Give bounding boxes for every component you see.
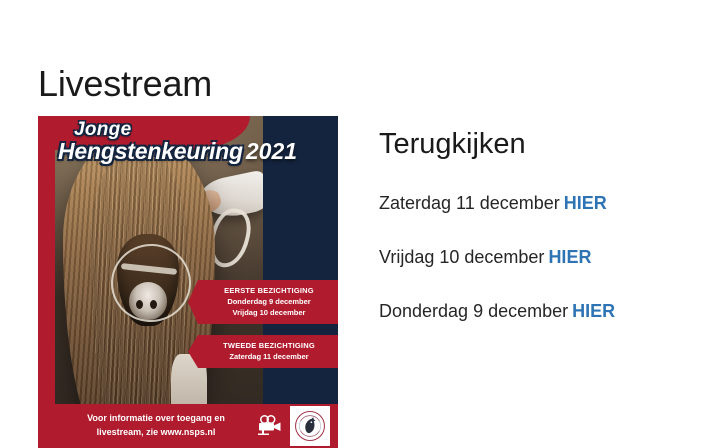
ribbon-2-title: TWEEDE BEZICHTIGING bbox=[210, 340, 328, 351]
poster-footer-line-1: Voor informatie over toegang en bbox=[64, 411, 248, 425]
page-title: Livestream bbox=[38, 62, 212, 106]
replay-section-title: Terugkijken bbox=[379, 126, 699, 162]
ribbon-1-line-1: Donderdag 9 december bbox=[210, 296, 328, 307]
nsps-logo bbox=[290, 406, 330, 446]
replay-row-friday: Vrijdag 10 decemberHIER bbox=[379, 245, 699, 269]
poster-headline-year: 2021 bbox=[246, 138, 297, 164]
replay-link-thursday[interactable]: HIER bbox=[572, 301, 615, 321]
poster-ribbon-first-viewing: EERSTE BEZICHTIGING Donderdag 9 december… bbox=[188, 280, 338, 324]
replay-label-saturday: Zaterdag 11 december bbox=[379, 193, 560, 213]
nsps-horse-head-logo-icon bbox=[293, 409, 327, 443]
replay-link-saturday[interactable]: HIER bbox=[564, 193, 607, 213]
replay-label-thursday: Donderdag 9 december bbox=[379, 301, 568, 321]
replay-label-friday: Vrijdag 10 december bbox=[379, 247, 544, 267]
ribbon-2-line-1: Zaterdag 11 december bbox=[210, 351, 328, 362]
poster-headline-line1: Jonge bbox=[74, 120, 297, 140]
replay-link-friday[interactable]: HIER bbox=[548, 247, 591, 267]
poster-headline: Jonge Hengstenkeuring2021 bbox=[58, 120, 297, 167]
poster-ribbon-second-viewing: TWEEDE BEZICHTIGING Zaterdag 11 december bbox=[188, 335, 338, 368]
replay-section: Terugkijken Zaterdag 11 decemberHIER Vri… bbox=[379, 116, 699, 323]
poster-red-left-strip bbox=[38, 116, 55, 448]
video-camera-icon bbox=[256, 415, 282, 435]
poster-footer-text: Voor informatie over toegang en livestre… bbox=[64, 411, 248, 439]
poster-footer-bar: Voor informatie over toegang en livestre… bbox=[38, 404, 338, 448]
livestream-poster-image: Jonge Hengstenkeuring2021 EERSTE BEZICHT… bbox=[38, 116, 338, 448]
replay-row-saturday: Zaterdag 11 decemberHIER bbox=[379, 191, 699, 215]
ribbon-1-title: EERSTE BEZICHTIGING bbox=[210, 285, 328, 296]
poster-headline-line2: Hengstenkeuring bbox=[58, 138, 243, 164]
replay-row-thursday: Donderdag 9 decemberHIER bbox=[379, 299, 699, 323]
ribbon-1-line-2: Vrijdag 10 december bbox=[210, 307, 328, 318]
poster-footer-line-2: livestream, zie www.nsps.nl bbox=[64, 425, 248, 439]
